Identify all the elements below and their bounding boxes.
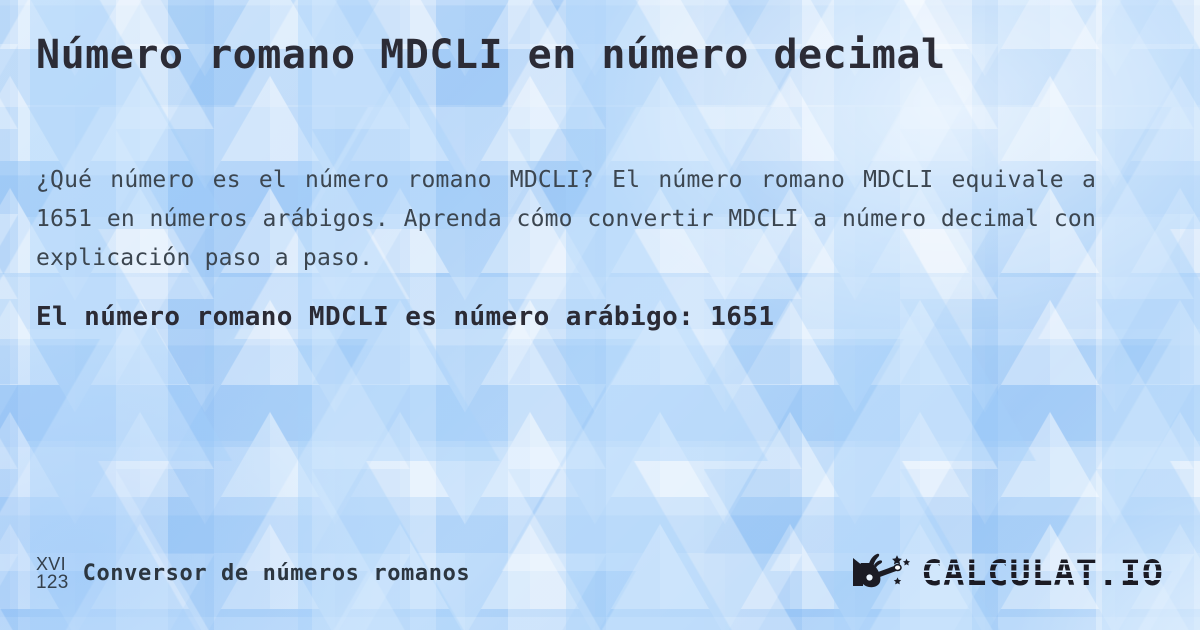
intro-paragraph: ¿Qué número es el número romano MDCLI? E… xyxy=(36,161,1096,278)
page-content: Número romano MDCLI en número decimal ¿Q… xyxy=(0,0,1200,630)
brand-wordmark: CALCULAT.IO xyxy=(921,557,1164,592)
footer-section-title: Conversor de números romanos xyxy=(83,561,471,586)
content-spacer xyxy=(36,332,1164,552)
roman-logo-bottom-text: 123 xyxy=(36,573,69,592)
page-title: Número romano MDCLI en número decimal xyxy=(36,0,1164,79)
og-image-canvas: Número romano MDCLI en número decimal ¿Q… xyxy=(0,0,1200,630)
roman-numeral-logo: XVI 123 xyxy=(36,555,69,593)
main-content: ¿Qué número es el número romano MDCLI? E… xyxy=(36,161,1164,332)
conversion-result: El número romano MDCLI es número arábigo… xyxy=(36,302,1164,332)
footer: XVI 123 Conversor de números romanos xyxy=(36,552,1164,630)
hand-magic-wand-icon xyxy=(853,552,915,596)
footer-left-group: XVI 123 Conversor de números romanos xyxy=(36,555,470,593)
brand-logo: CALCULAT.IO xyxy=(853,552,1164,596)
roman-logo-top-text: XVI xyxy=(36,555,69,573)
